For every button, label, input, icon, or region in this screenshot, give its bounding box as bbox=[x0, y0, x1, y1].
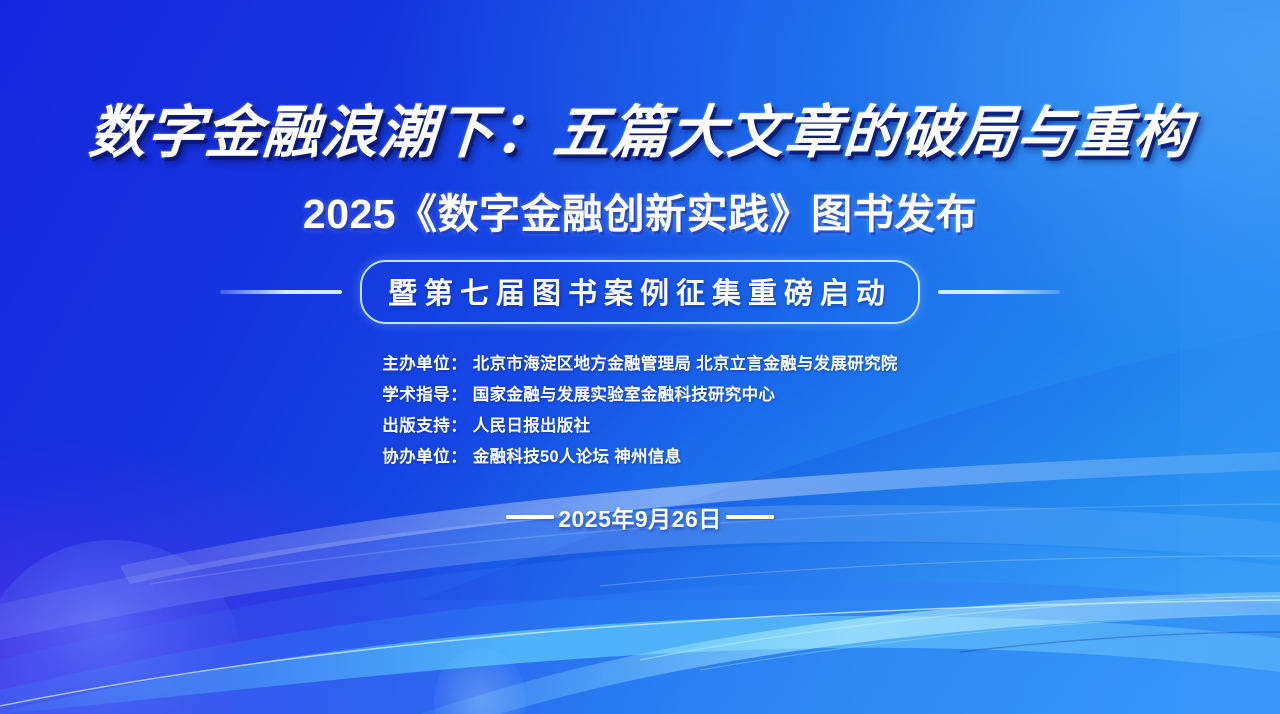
poster-canvas: 数字金融浪潮下：五篇大文章的破局与重构 2025《数字金融创新实践》图书发布 暨… bbox=[0, 0, 1280, 714]
organizer-separator: ： bbox=[450, 350, 473, 374]
list-item: 学术指导 ： 国家金融与发展实验室金融科技研究中心 bbox=[382, 381, 775, 405]
banner-label: 暨第七届图书案例征集重磅启动 bbox=[388, 278, 892, 310]
organizer-list: 主办单位 ： 北京市海淀区地方金融管理局 北京立言金融与发展研究院 学术指导 ：… bbox=[382, 350, 897, 467]
organizer-label: 协办单位 bbox=[382, 443, 450, 467]
organizer-label: 学术指导 bbox=[382, 381, 450, 405]
event-date: 2025年9月26日 bbox=[506, 500, 774, 534]
list-item: 出版支持 ： 人民日报出版社 bbox=[382, 412, 590, 436]
banner-rule-right bbox=[938, 290, 1060, 294]
organizer-label: 出版支持 bbox=[382, 412, 450, 436]
organizer-value: 北京市海淀区地方金融管理局 北京立言金融与发展研究院 bbox=[473, 350, 898, 374]
page-title: 数字金融浪潮下：五篇大文章的破局与重构 bbox=[87, 104, 1193, 164]
poster-content: 数字金融浪潮下：五篇大文章的破局与重构 2025《数字金融创新实践》图书发布 暨… bbox=[0, 0, 1280, 714]
organizer-separator: ： bbox=[450, 381, 473, 405]
organizer-value: 国家金融与发展实验室金融科技研究中心 bbox=[473, 381, 775, 405]
organizer-value: 金融科技50人论坛 神州信息 bbox=[473, 443, 682, 467]
date-label: 2025年9月26日 bbox=[556, 500, 724, 534]
organizer-value: 人民日报出版社 bbox=[473, 412, 591, 436]
poster-subtitle: 2025《数字金融创新实践》图书发布 bbox=[303, 180, 977, 240]
list-item: 协办单位 ： 金融科技50人论坛 神州信息 bbox=[382, 443, 681, 467]
banner-outline-box: 暨第七届图书案例征集重磅启动 bbox=[360, 260, 920, 324]
list-item: 主办单位 ： 北京市海淀区地方金融管理局 北京立言金融与发展研究院 bbox=[382, 350, 897, 374]
date-dash-left bbox=[506, 515, 554, 519]
organizer-separator: ： bbox=[450, 412, 473, 436]
organizer-separator: ： bbox=[450, 443, 473, 467]
date-dash-right bbox=[726, 515, 774, 519]
launch-banner: 暨第七届图书案例征集重磅启动 bbox=[220, 260, 1060, 324]
organizer-label: 主办单位 bbox=[382, 350, 450, 374]
banner-rule-left bbox=[220, 290, 342, 294]
